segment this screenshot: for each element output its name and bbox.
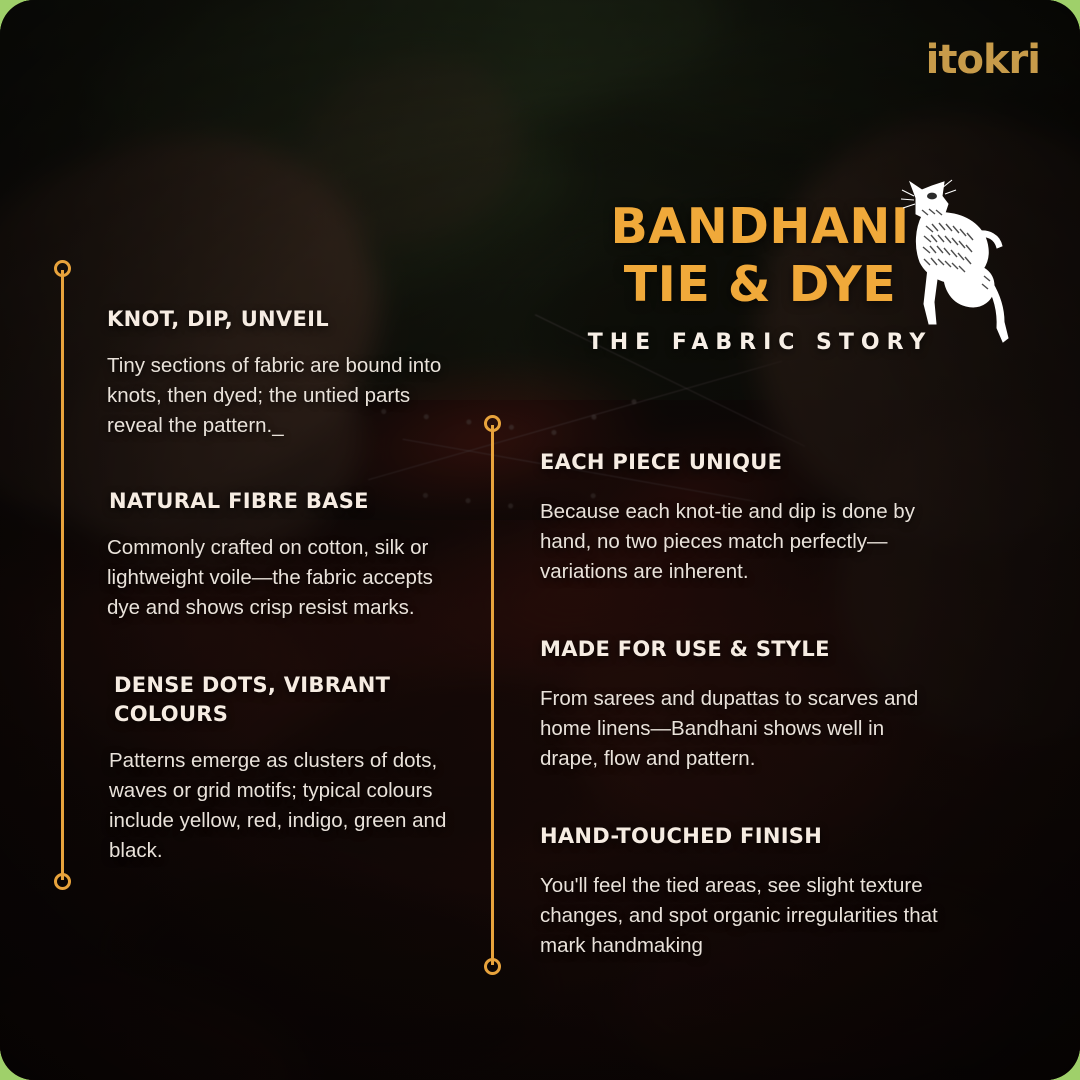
info-block: HAND-TOUCHED FINISH You'll feel the tied… (540, 822, 940, 961)
info-block-body: Patterns emerge as clusters of dots, wav… (105, 746, 465, 866)
info-block-heading: NATURAL FIBRE BASE (105, 487, 465, 516)
info-block: EACH PIECE UNIQUE Because each knot-tie … (540, 448, 940, 587)
info-block: MADE FOR USE & STYLE From sarees and dup… (540, 635, 940, 774)
infographic-poster: itokri BANDHANI TIE & DYE THE FABRIC STO… (0, 0, 1080, 1080)
info-block: DENSE DOTS, VIBRANT COLOURS Patterns eme… (105, 671, 465, 866)
info-block-body: Commonly crafted on cotton, silk or ligh… (105, 533, 465, 623)
cat-illustration (898, 172, 1010, 354)
timeline-rail-left (61, 270, 64, 880)
info-block: KNOT, DIP, UNVEIL Tiny sections of fabri… (105, 305, 465, 441)
timeline-dot-icon (54, 873, 71, 890)
timeline-dot-icon (484, 415, 501, 432)
timeline-dot-icon (484, 958, 501, 975)
info-block: NATURAL FIBRE BASE Commonly crafted on c… (105, 487, 465, 623)
info-block-body: Tiny sections of fabric are bound into k… (105, 351, 465, 441)
info-block-heading: EACH PIECE UNIQUE (540, 448, 940, 477)
brand-logo[interactable]: itokri (926, 38, 1040, 82)
info-block-body: Because each knot-tie and dip is done by… (540, 497, 940, 587)
info-block-body: You'll feel the tied areas, see slight t… (540, 871, 940, 961)
timeline-dot-icon (54, 260, 71, 277)
info-block-body: From sarees and dupattas to scarves and … (540, 684, 940, 774)
info-block-heading: DENSE DOTS, VIBRANT COLOURS (105, 671, 465, 729)
right-column: EACH PIECE UNIQUE Because each knot-tie … (540, 448, 940, 1009)
brand-logo-text: itokri (926, 38, 1040, 82)
info-block-heading: MADE FOR USE & STYLE (540, 635, 940, 664)
content-layer: itokri BANDHANI TIE & DYE THE FABRIC STO… (0, 0, 1080, 1080)
info-block-heading: KNOT, DIP, UNVEIL (105, 305, 465, 334)
info-block-heading: HAND-TOUCHED FINISH (540, 822, 940, 851)
left-column: KNOT, DIP, UNVEIL Tiny sections of fabri… (105, 305, 465, 896)
timeline-rail-middle (491, 425, 494, 965)
